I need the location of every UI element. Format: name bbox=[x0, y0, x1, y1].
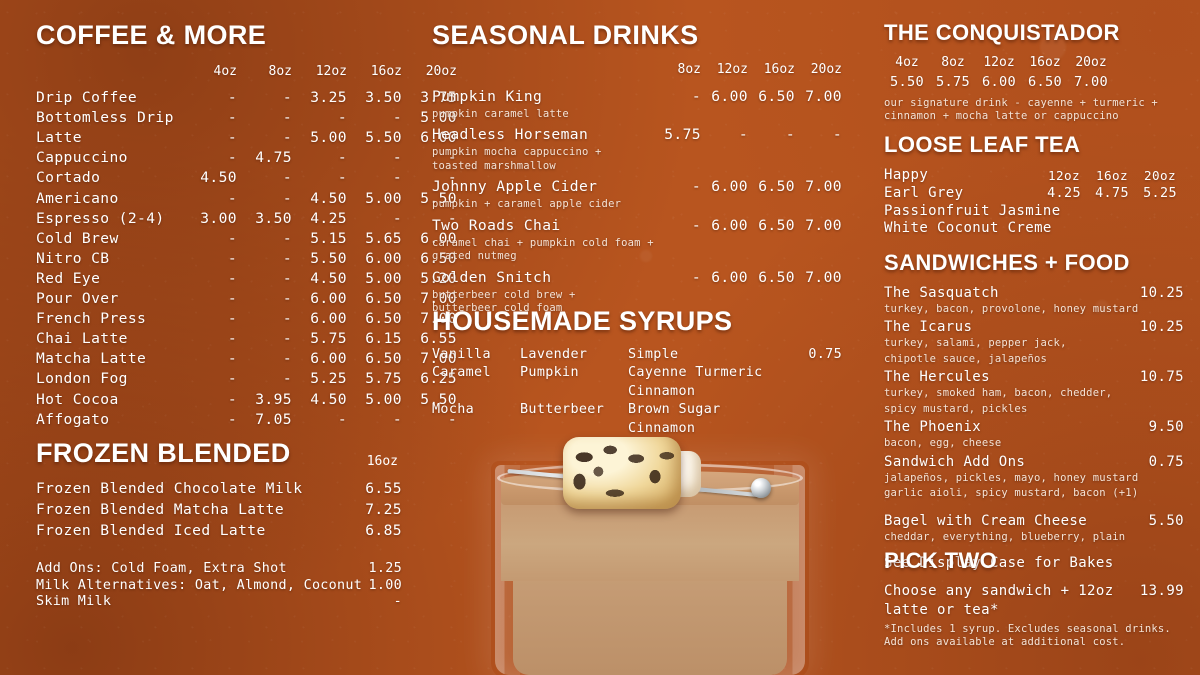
seasonal-item-price: 7.00 bbox=[800, 267, 842, 288]
coffee-size-header: 4oz bbox=[193, 62, 237, 82]
coffee-item-name: Chai Latte bbox=[36, 329, 182, 349]
coffee-item-price: 4.50 bbox=[193, 168, 237, 188]
food-item-description-line: turkey, salami, pepper jack, bbox=[884, 337, 1184, 350]
coffee-item-price: - bbox=[248, 249, 292, 269]
conquistador-note-line: our signature drink - cayenne + turmeric… bbox=[884, 97, 1184, 110]
coffee-item-price: 6.50 bbox=[358, 289, 402, 309]
description-line: grated nutmeg bbox=[432, 250, 842, 263]
seasonal-row: Pumpkin King-6.006.507.00 bbox=[432, 86, 842, 107]
frozen-size-header: 16oz bbox=[367, 454, 398, 469]
conquistador-note: our signature drink - cayenne + turmeric… bbox=[884, 97, 1184, 124]
syrup-price bbox=[796, 364, 842, 401]
coffee-item-price: 5.00 bbox=[358, 269, 402, 289]
seasonal-item-price: 6.00 bbox=[706, 86, 748, 107]
coffee-item-name: London Fog bbox=[36, 369, 182, 389]
coffee-item-name: Nitro CB bbox=[36, 249, 182, 269]
seasonal-item-description: pumpkin caramel latte bbox=[432, 108, 842, 121]
frozen-item-name: Frozen Blended Chocolate Milk bbox=[36, 479, 302, 500]
conquistador-size-header: 16oz bbox=[1022, 55, 1068, 70]
food-section-title: SANDWICHES + FOOD bbox=[884, 252, 1184, 274]
food-item-description-line: garlic aioli, spicy mustard, bacon (+1) bbox=[884, 487, 1184, 500]
addon-row: Add Ons: Cold Foam, Extra Shot1.25 bbox=[36, 561, 402, 577]
seasonal-size-header: 8oz bbox=[659, 62, 701, 77]
seasonal-item-price: 6.50 bbox=[753, 176, 795, 197]
coffee-item-price: 4.25 bbox=[303, 209, 347, 229]
coffee-item-price: 7.05 bbox=[248, 410, 292, 430]
coffee-item-name: Cortado bbox=[36, 168, 182, 188]
seasonal-item-name: Two Roads Chai bbox=[432, 215, 654, 236]
bagel-item: Bagel with Cream Cheese5.50cheddar, ever… bbox=[884, 512, 1184, 544]
food-item: The Icarus10.25turkey, salami, pepper ja… bbox=[884, 318, 1184, 366]
coffee-row: Cold Brew--5.155.656.00 bbox=[36, 229, 402, 249]
coffee-item-price: 3.50 bbox=[248, 209, 292, 229]
conquistador-note-line: cinnamon + mocha latte or cappuccino bbox=[884, 110, 1184, 123]
section-spacer bbox=[884, 503, 1184, 512]
coffee-row: Affogato-7.05--- bbox=[36, 410, 402, 430]
drink-bottom-layer bbox=[513, 579, 787, 675]
addon-price: 1.25 bbox=[369, 561, 402, 577]
coffee-row: Cappuccino-4.75--- bbox=[36, 148, 402, 168]
coffee-row: French Press--6.006.507.00 bbox=[36, 309, 402, 329]
seasonal-row: Headless Horseman5.75--- bbox=[432, 124, 842, 145]
coffee-item-price: - bbox=[193, 229, 237, 249]
tea-size-header: 16oz bbox=[1088, 167, 1136, 185]
food-item-name: The Icarus bbox=[884, 318, 972, 337]
frozen-blended-section: FROZEN BLENDED 16oz Frozen Blended Choco… bbox=[36, 440, 402, 610]
food-item-description-line: cheddar, everything, blueberry, plain bbox=[884, 531, 1184, 544]
coffee-size-header-row: 4oz8oz12oz16oz20oz bbox=[36, 62, 402, 82]
seasonal-row: Two Roads Chai-6.006.507.00 bbox=[432, 215, 842, 236]
seasonal-item-description: caramel chai + pumpkin cold foam +grated… bbox=[432, 237, 842, 264]
food-item-head: The Sasquatch10.25 bbox=[884, 284, 1184, 303]
food-item-name: Bagel with Cream Cheese bbox=[884, 512, 1087, 531]
pick-two-line2: latte or tea* bbox=[884, 601, 1184, 620]
seasonal-item-price: - bbox=[659, 176, 701, 197]
seasonal-item-price: 6.50 bbox=[753, 215, 795, 236]
pick-two-price: 13.99 bbox=[1140, 582, 1184, 601]
conquistador-price: 7.00 bbox=[1068, 74, 1114, 90]
coffee-item-price: - bbox=[193, 148, 237, 168]
coffee-item-name: Hot Cocoa bbox=[36, 390, 182, 410]
coffee-item-price: - bbox=[248, 229, 292, 249]
coffee-item-price: - bbox=[248, 349, 292, 369]
coffee-item-price: - bbox=[193, 88, 237, 108]
tea-price: 4.75 bbox=[1088, 185, 1136, 203]
syrup-name: Simple bbox=[628, 346, 796, 364]
coffee-size-header: 12oz bbox=[303, 62, 347, 82]
seasonal-item-price: 7.00 bbox=[800, 86, 842, 107]
conquistador-price-row: 5.505.756.006.507.00 bbox=[884, 74, 1184, 90]
seasonal-item-price: 6.00 bbox=[706, 176, 748, 197]
coffee-price-table: 4oz8oz12oz16oz20ozDrip Coffee--3.253.503… bbox=[36, 62, 402, 430]
loose-leaf-tea-section: LOOSE LEAF TEA 12oz16oz20oz 4.254.755.25… bbox=[884, 134, 1184, 238]
seasonal-drinks-section: SEASONAL DRINKS 8oz12oz16oz20ozPumpkin K… bbox=[432, 22, 842, 319]
frozen-item-list: Frozen Blended Chocolate Milk6.55Frozen … bbox=[36, 479, 402, 541]
seasonal-item-price: - bbox=[800, 124, 842, 145]
coffee-item-price: - bbox=[248, 369, 292, 389]
tea-price: 4.25 bbox=[1040, 185, 1088, 203]
syrup-name: Pumpkin bbox=[520, 364, 628, 401]
syrup-name: Cayenne Turmeric Cinnamon bbox=[628, 364, 796, 401]
coffee-row: Americano--4.505.005.50 bbox=[36, 189, 402, 209]
seasonal-item-description: pumpkin + caramel apple cider bbox=[432, 198, 842, 211]
coffee-item-price: - bbox=[248, 108, 292, 128]
seasonal-item-name: Pumpkin King bbox=[432, 86, 654, 107]
food-item-price: 10.25 bbox=[1140, 318, 1184, 337]
seasonal-item-name: Johnny Apple Cider bbox=[432, 176, 654, 197]
tea-price-row: 4.254.755.25 bbox=[1040, 185, 1184, 203]
food-item-name: The Hercules bbox=[884, 368, 990, 387]
coffee-row: Pour Over--6.006.507.00 bbox=[36, 289, 402, 309]
coffee-item-price: - bbox=[193, 349, 237, 369]
conquistador-price: 6.00 bbox=[976, 74, 1022, 90]
coffee-item-name: Cold Brew bbox=[36, 229, 182, 249]
seasonal-item-name: Golden Snitch bbox=[432, 267, 654, 288]
food-item-price: 10.75 bbox=[1140, 368, 1184, 387]
food-item-description-line: bacon, egg, cheese bbox=[884, 437, 1184, 450]
seasonal-row: Golden Snitch-6.006.507.00 bbox=[432, 267, 842, 288]
description-line: toasted marshmallow bbox=[432, 160, 842, 173]
frozen-row: Frozen Blended Chocolate Milk6.55 bbox=[36, 479, 402, 500]
food-item-price: 10.25 bbox=[1140, 284, 1184, 303]
seasonal-item-price: - bbox=[706, 124, 748, 145]
frozen-item-name: Frozen Blended Matcha Latte bbox=[36, 500, 284, 521]
coffee-item-price: 5.75 bbox=[303, 329, 347, 349]
coffee-item-price: 6.00 bbox=[303, 309, 347, 329]
coffee-item-price: 4.75 bbox=[248, 148, 292, 168]
coffee-item-price: 5.75 bbox=[358, 369, 402, 389]
food-item-description-line: jalapeños, pickles, mayo, honey mustard bbox=[884, 472, 1184, 485]
coffee-item-price: 6.50 bbox=[358, 349, 402, 369]
conquistador-size-header: 8oz bbox=[930, 55, 976, 70]
drink-middle-layer bbox=[501, 499, 799, 581]
coffee-item-price: - bbox=[358, 108, 402, 128]
seasonal-item-price: - bbox=[659, 86, 701, 107]
food-item: The Phoenix9.50bacon, egg, cheese bbox=[884, 418, 1184, 450]
coffee-item-name: Latte bbox=[36, 128, 182, 148]
coffee-item-price: - bbox=[193, 289, 237, 309]
seasonal-item-price: - bbox=[659, 267, 701, 288]
coffee-item-price: 5.25 bbox=[303, 369, 347, 389]
food-item: Sandwich Add Ons0.75jalapeños, pickles, … bbox=[884, 453, 1184, 501]
tea-size-header: 12oz16oz20oz bbox=[1040, 167, 1184, 185]
food-item-description-line: chipotle sauce, jalapeños bbox=[884, 353, 1184, 366]
syrup-name: Lavender bbox=[520, 346, 628, 364]
coffee-item-price: 5.00 bbox=[358, 189, 402, 209]
seasonal-item-price: 7.00 bbox=[800, 176, 842, 197]
coffee-item-price: - bbox=[303, 108, 347, 128]
addon-row: Skim Milk- bbox=[36, 594, 402, 610]
addon-row: Milk Alternatives: Oat, Almond, Coconut1… bbox=[36, 578, 402, 594]
conquistador-price: 5.50 bbox=[884, 74, 930, 90]
coffee-item-price: 4.50 bbox=[303, 390, 347, 410]
seasonal-item-price: 6.50 bbox=[753, 267, 795, 288]
coffee-row: Hot Cocoa-3.954.505.005.50 bbox=[36, 390, 402, 410]
seasonal-item-price: - bbox=[659, 215, 701, 236]
food-item: The Sasquatch10.25turkey, bacon, provolo… bbox=[884, 284, 1184, 316]
coffee-item-price: 6.00 bbox=[303, 349, 347, 369]
description-line: caramel chai + pumpkin cold foam + bbox=[432, 237, 842, 250]
frozen-item-price: 6.85 bbox=[365, 521, 402, 542]
seasonal-item-price: - bbox=[753, 124, 795, 145]
coffee-item-price: - bbox=[358, 410, 402, 430]
syrup-name: Vanilla bbox=[432, 346, 520, 364]
seasonal-item-price: 5.75 bbox=[659, 124, 701, 145]
pick-two-section: PICK TWO Choose any sandwich + 12oz 13.9… bbox=[884, 550, 1184, 650]
pick-two-note: *Includes 1 syrup. Excludes seasonal dri… bbox=[884, 623, 1184, 650]
coffee-item-price: 5.00 bbox=[358, 390, 402, 410]
food-item-price: 5.50 bbox=[1149, 512, 1184, 531]
food-item-description-line: turkey, smoked ham, bacon, chedder, bbox=[884, 387, 1184, 400]
seasonal-size-header: 20oz bbox=[800, 62, 842, 77]
coffee-item-name: Affogato bbox=[36, 410, 182, 430]
seasonal-size-header: 16oz bbox=[753, 62, 795, 77]
coffee-item-price: - bbox=[248, 88, 292, 108]
food-item-price: 9.50 bbox=[1149, 418, 1184, 437]
coffee-item-price: - bbox=[193, 369, 237, 389]
tea-item-name: Passionfruit Jasmine bbox=[884, 203, 1184, 221]
seasonal-item-price: 6.50 bbox=[753, 86, 795, 107]
coffee-item-price: - bbox=[303, 148, 347, 168]
coffee-row: London Fog--5.255.756.25 bbox=[36, 369, 402, 389]
tea-section-title: LOOSE LEAF TEA bbox=[884, 134, 1184, 156]
coffee-row: Nitro CB--5.506.006.50 bbox=[36, 249, 402, 269]
coffee-item-price: 4.50 bbox=[303, 269, 347, 289]
seasonal-price-table: 8oz12oz16oz20ozPumpkin King-6.006.507.00… bbox=[432, 62, 842, 316]
seasonal-item-price: 7.00 bbox=[800, 215, 842, 236]
coffee-item-price: - bbox=[193, 309, 237, 329]
coffee-item-price: - bbox=[248, 309, 292, 329]
coffee-item-price: 6.00 bbox=[358, 249, 402, 269]
toasted-marshmallow bbox=[563, 437, 681, 509]
food-item-head: The Icarus10.25 bbox=[884, 318, 1184, 337]
coffee-item-price: 6.50 bbox=[358, 309, 402, 329]
frozen-item-name: Frozen Blended Iced Latte bbox=[36, 521, 266, 542]
frozen-row: Frozen Blended Matcha Latte7.25 bbox=[36, 500, 402, 521]
conquistador-section-title: THE CONQUISTADOR bbox=[884, 22, 1184, 44]
coffee-item-price: - bbox=[193, 128, 237, 148]
coffee-item-price: 5.15 bbox=[303, 229, 347, 249]
addon-name: Skim Milk bbox=[36, 594, 111, 610]
coffee-item-price: - bbox=[248, 168, 292, 188]
coffee-item-price: - bbox=[193, 269, 237, 289]
seasonal-size-header: 12oz bbox=[706, 62, 748, 77]
seasonal-item-name: Headless Horseman bbox=[432, 124, 654, 145]
food-item-head: Sandwich Add Ons0.75 bbox=[884, 453, 1184, 472]
coffee-item-price: 3.50 bbox=[358, 88, 402, 108]
food-item-price: 0.75 bbox=[1149, 453, 1184, 472]
seasonal-item-price: 6.00 bbox=[706, 215, 748, 236]
pick-two-note-line: Add ons available at additional cost. bbox=[884, 636, 1184, 649]
syrups-section-title: HOUSEMADE SYRUPS bbox=[432, 308, 842, 335]
tea-size-header: 20oz bbox=[1136, 167, 1184, 185]
food-item-head: Bagel with Cream Cheese5.50 bbox=[884, 512, 1184, 531]
coffee-item-price: - bbox=[193, 390, 237, 410]
frozen-item-price: 6.55 bbox=[365, 479, 402, 500]
coffee-item-price: - bbox=[358, 209, 402, 229]
coffee-and-more-section: COFFEE & MORE 4oz8oz12oz16oz20ozDrip Cof… bbox=[36, 22, 402, 430]
coffee-item-price: - bbox=[248, 189, 292, 209]
tea-price: 5.25 bbox=[1136, 185, 1184, 203]
food-item: The Hercules10.75turkey, smoked ham, bac… bbox=[884, 368, 1184, 416]
coffee-item-price: - bbox=[248, 329, 292, 349]
addon-name: Milk Alternatives: Oat, Almond, Coconut bbox=[36, 578, 362, 594]
coffee-item-name: French Press bbox=[36, 309, 182, 329]
coffee-row: Espresso (2-4)3.003.504.25-- bbox=[36, 209, 402, 229]
food-item-description-line: turkey, bacon, provolone, honey mustard bbox=[884, 303, 1184, 316]
frozen-row: Frozen Blended Iced Latte6.85 bbox=[36, 521, 402, 542]
addon-price: 1.00 bbox=[369, 578, 402, 594]
coffee-item-price: - bbox=[248, 289, 292, 309]
addon-price: - bbox=[394, 594, 402, 610]
coffee-item-price: 3.95 bbox=[248, 390, 292, 410]
coffee-item-price: 3.25 bbox=[303, 88, 347, 108]
coffee-row: Latte--5.005.506.00 bbox=[36, 128, 402, 148]
syrup-row: VanillaLavenderSimple0.75 bbox=[432, 346, 842, 364]
coffee-item-price: 5.50 bbox=[303, 249, 347, 269]
coffee-item-price: 6.00 bbox=[303, 289, 347, 309]
coffee-item-price: 6.15 bbox=[358, 329, 402, 349]
coffee-section-title: COFFEE & MORE bbox=[36, 22, 402, 49]
sandwiches-and-food-section: SANDWICHES + FOOD The Sasquatch10.25turk… bbox=[884, 252, 1184, 571]
coffee-item-price: - bbox=[193, 108, 237, 128]
addons-list: Add Ons: Cold Foam, Extra Shot1.25Milk A… bbox=[36, 561, 402, 610]
coffee-item-name: Pour Over bbox=[36, 289, 182, 309]
tea-item-name: White Coconut Creme bbox=[884, 220, 1184, 238]
food-item-name: The Sasquatch bbox=[884, 284, 999, 303]
coffee-row: Cortado4.50---- bbox=[36, 168, 402, 188]
syrup-row: CaramelPumpkinCayenne Turmeric Cinnamon bbox=[432, 364, 842, 401]
seasonal-item-description: pumpkin mocha cappuccino +toasted marshm… bbox=[432, 146, 842, 173]
tea-size-header: 12oz bbox=[1040, 167, 1088, 185]
coffee-item-price: - bbox=[193, 410, 237, 430]
food-item-head: The Phoenix9.50 bbox=[884, 418, 1184, 437]
coffee-item-price: - bbox=[193, 189, 237, 209]
conquistador-size-header: 20oz bbox=[1068, 55, 1114, 70]
conquistador-price: 6.50 bbox=[1022, 74, 1068, 90]
coffee-size-header: 8oz bbox=[248, 62, 292, 82]
coffee-item-name: Drip Coffee bbox=[36, 88, 182, 108]
coffee-row: Chai Latte--5.756.156.55 bbox=[36, 329, 402, 349]
housemade-syrups-section: HOUSEMADE SYRUPS VanillaLavenderSimple0.… bbox=[432, 308, 842, 438]
food-item-head: The Hercules10.75 bbox=[884, 368, 1184, 387]
syrup-price: 0.75 bbox=[796, 346, 842, 364]
coffee-item-price: 3.00 bbox=[193, 209, 237, 229]
conquistador-size-header: 12oz bbox=[976, 55, 1022, 70]
conquistador-size-header: 4oz8oz12oz16oz20oz bbox=[884, 55, 1184, 70]
coffee-item-name: Bottomless Drip bbox=[36, 108, 182, 128]
coffee-row: Matcha Latte--6.006.507.00 bbox=[36, 349, 402, 369]
coffee-item-price: - bbox=[248, 269, 292, 289]
food-item-name: Sandwich Add Ons bbox=[884, 453, 1025, 472]
food-item-description-line: spicy mustard, pickles bbox=[884, 403, 1184, 416]
coffee-row: Bottomless Drip----5.00 bbox=[36, 108, 402, 128]
coffee-row: Drip Coffee--3.253.503.75 bbox=[36, 88, 402, 108]
cocktail-pick-ball-icon bbox=[751, 478, 771, 498]
coffee-item-price: - bbox=[193, 249, 237, 269]
description-line: pumpkin + caramel apple cider bbox=[432, 198, 842, 211]
coffee-item-name: Cappuccino bbox=[36, 148, 182, 168]
food-item-list: The Sasquatch10.25turkey, bacon, provolo… bbox=[884, 284, 1184, 544]
seasonal-size-header-row: 8oz12oz16oz20oz bbox=[432, 62, 842, 77]
description-line: pumpkin mocha cappuccino + bbox=[432, 146, 842, 159]
coffee-item-name: Matcha Latte bbox=[36, 349, 182, 369]
frozen-item-price: 7.25 bbox=[365, 500, 402, 521]
coffee-item-name: Espresso (2-4) bbox=[36, 209, 182, 229]
coffee-item-name: Red Eye bbox=[36, 269, 182, 289]
conquistador-section: THE CONQUISTADOR 4oz8oz12oz16oz20oz 5.50… bbox=[884, 22, 1184, 124]
coffee-item-price: - bbox=[358, 148, 402, 168]
coffee-row: Red Eye--4.505.005.20 bbox=[36, 269, 402, 289]
coffee-item-price: 4.50 bbox=[303, 189, 347, 209]
pick-two-line1: Choose any sandwich + 12oz bbox=[884, 582, 1114, 601]
coffee-item-price: - bbox=[193, 329, 237, 349]
coffee-item-price: - bbox=[303, 168, 347, 188]
coffee-item-price: - bbox=[303, 410, 347, 430]
coffee-item-price: - bbox=[248, 128, 292, 148]
syrup-name: Caramel bbox=[432, 364, 520, 401]
food-item-name: The Phoenix bbox=[884, 418, 981, 437]
coffee-size-header: 16oz bbox=[358, 62, 402, 82]
description-line: butterbeer cold brew + bbox=[432, 289, 842, 302]
coffee-item-price: 5.65 bbox=[358, 229, 402, 249]
frozen-section-title: FROZEN BLENDED bbox=[36, 440, 402, 467]
seasonal-row: Johnny Apple Cider-6.006.507.00 bbox=[432, 176, 842, 197]
drink-photo bbox=[455, 425, 845, 675]
conquistador-size-header: 4oz bbox=[884, 55, 930, 70]
pick-two-note-line: *Includes 1 syrup. Excludes seasonal dri… bbox=[884, 623, 1184, 636]
addon-name: Add Ons: Cold Foam, Extra Shot bbox=[36, 561, 287, 577]
coffee-item-price: - bbox=[358, 168, 402, 188]
pick-two-title: PICK TWO bbox=[884, 550, 1184, 572]
coffee-item-price: 5.50 bbox=[358, 128, 402, 148]
seasonal-section-title: SEASONAL DRINKS bbox=[432, 22, 842, 49]
seasonal-item-price: 6.00 bbox=[706, 267, 748, 288]
conquistador-price: 5.75 bbox=[930, 74, 976, 90]
coffee-item-name: Americano bbox=[36, 189, 182, 209]
coffee-item-price: 5.00 bbox=[303, 128, 347, 148]
description-line: pumpkin caramel latte bbox=[432, 108, 842, 121]
